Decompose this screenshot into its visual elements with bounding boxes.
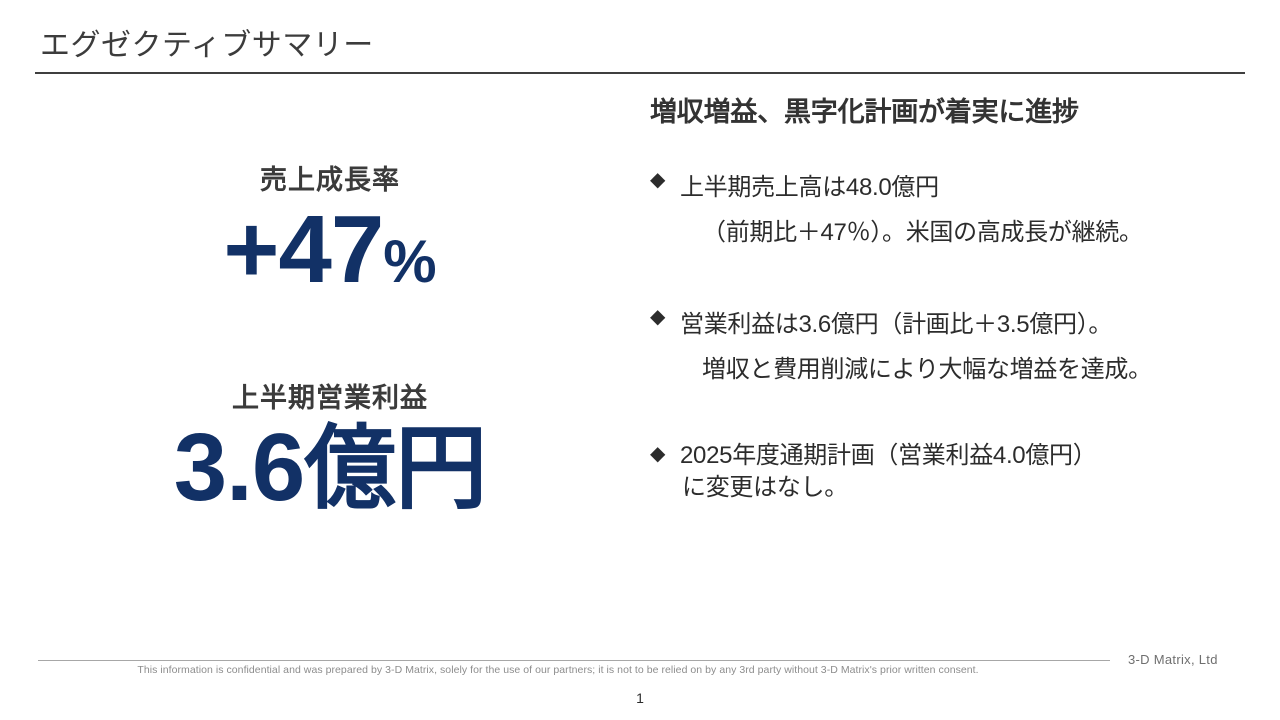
kpi-column: 売上成長率 +47% 上半期営業利益 3.6億円 (40, 96, 620, 626)
footer-disclaimer: This information is confidential and was… (38, 664, 1078, 676)
highlights-bullet-list: ◆ 上半期売上高は48.0億円 （前期比＋47％）。米国の高成長が継続。 ◆ 営… (650, 166, 1250, 504)
highlights-heading: 増収増益、黒字化計画が着実に進捗 (650, 96, 1250, 128)
kpi-card-revenue-growth: 売上成長率 +47% (40, 166, 620, 298)
kpi-value-unit: 億円 (304, 418, 486, 520)
kpi-value-main: 3.6 (174, 414, 304, 521)
list-item-line: 2025年度通期計画（営業利益4.0億円） (680, 440, 1250, 472)
kpi-label: 上半期営業利益 (40, 384, 620, 414)
kpi-value: +47% (40, 202, 620, 298)
page-title: エグゼクティブサマリー (40, 20, 374, 64)
kpi-value-unit: % (383, 228, 436, 295)
kpi-value-main: +47 (223, 196, 383, 303)
footer-divider (38, 660, 1110, 661)
kpi-card-operating-profit: 上半期営業利益 3.6億円 (40, 384, 620, 516)
slide-canvas: エグゼクティブサマリー 売上成長率 +47% 上半期営業利益 3.6億円 増収増… (0, 0, 1280, 720)
title-divider (35, 72, 1245, 74)
list-item-line: （前期比＋47％）。米国の高成長が継続。 (680, 211, 1250, 255)
list-item: ◆ 営業利益は3.6億円（計画比＋3.5億円）。 増収と費用削減により大幅な増益… (650, 303, 1250, 392)
list-item: ◆ 2025年度通期計画（営業利益4.0億円） に変更はなし。 (650, 440, 1250, 505)
list-item-line: 上半期売上高は48.0億円 (680, 166, 1250, 210)
list-item-line: に変更はなし。 (680, 472, 1250, 504)
footer-company-name: 3-D Matrix, Ltd (1128, 652, 1218, 667)
page-number: 1 (0, 690, 1280, 706)
highlights-column: 増収増益、黒字化計画が着実に進捗 ◆ 上半期売上高は48.0億円 （前期比＋47… (650, 96, 1250, 505)
kpi-label: 売上成長率 (40, 166, 620, 196)
diamond-bullet-icon: ◆ (650, 166, 665, 195)
diamond-bullet-icon: ◆ (650, 303, 665, 332)
list-item-line: 増収と費用削減により大幅な増益を達成。 (680, 348, 1250, 392)
slide-body: 売上成長率 +47% 上半期営業利益 3.6億円 増収増益、黒字化計画が着実に進… (0, 96, 1280, 626)
kpi-value: 3.6億円 (40, 420, 620, 516)
list-item: ◆ 上半期売上高は48.0億円 （前期比＋47％）。米国の高成長が継続。 (650, 166, 1250, 255)
list-item-line: 営業利益は3.6億円（計画比＋3.5億円）。 (680, 303, 1250, 347)
diamond-bullet-icon: ◆ (650, 440, 665, 469)
